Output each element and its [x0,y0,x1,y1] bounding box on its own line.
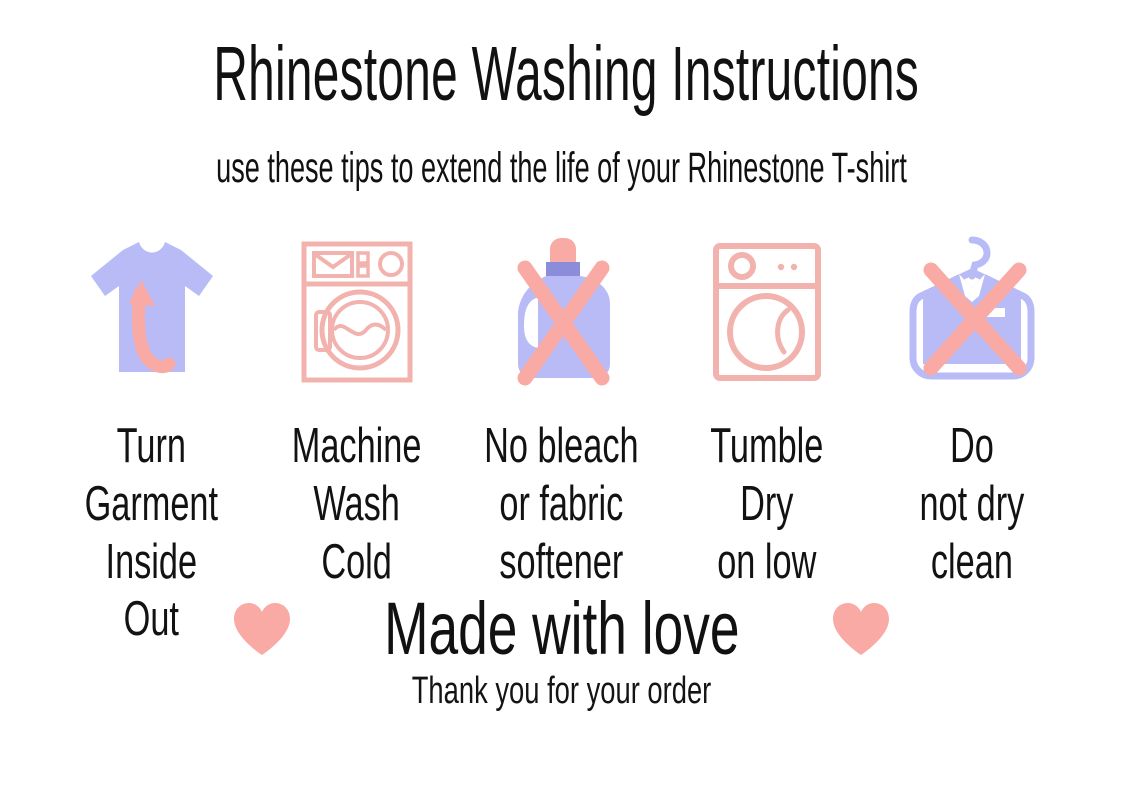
label-line: softener [484,534,638,592]
care-step-no-dry-clean: Do not dry clean [869,228,1074,591]
made-with-love-row: Made with love [0,592,1123,666]
care-step-label: Machine Wash Cold [292,418,422,591]
tshirt-inside-out-icon [68,228,236,396]
label-line: Turn [85,418,218,476]
care-step-label: Do not dry clean [919,418,1024,591]
washing-machine-icon [273,228,441,396]
no-bleach-bottle-icon [478,228,646,396]
label-line: Inside [85,534,218,592]
label-line: not dry [919,476,1024,534]
heart-icon [830,601,892,657]
label-line: Do [919,418,1024,476]
thank-you-text: Thank you for your order [157,672,966,710]
label-line: Cold [292,534,422,592]
care-step-turn-inside-out: Turn Garment Inside Out [49,228,254,649]
label-line: No bleach [484,418,638,476]
care-step-tumble-dry-low: Tumble Dry on low [664,228,869,591]
label-line: Wash [292,476,422,534]
label-line: Machine [292,418,422,476]
label-line: Tumble [710,418,823,476]
made-with-love-text: Made with love [384,592,739,666]
label-line: Dry [710,476,823,534]
page-title: Rhinestone Washing Instructions [213,36,909,113]
heart-icon [231,601,293,657]
label-line: or fabric [484,476,638,534]
care-step-label: No bleach or fabric softener [484,418,638,591]
washing-instructions-card: Rhinestone Washing Instructions use thes… [0,0,1123,794]
label-line: on low [710,534,823,592]
care-step-no-bleach: No bleach or fabric softener [459,228,664,591]
label-line: Garment [85,476,218,534]
label-line: clean [919,534,1024,592]
no-dry-clean-icon [888,228,1056,396]
care-step-label: Tumble Dry on low [710,418,823,591]
page-subtitle: use these tips to extend the life of you… [208,147,915,190]
tumble-dryer-icon [683,228,851,396]
care-step-machine-wash-cold: Machine Wash Cold [254,228,459,591]
